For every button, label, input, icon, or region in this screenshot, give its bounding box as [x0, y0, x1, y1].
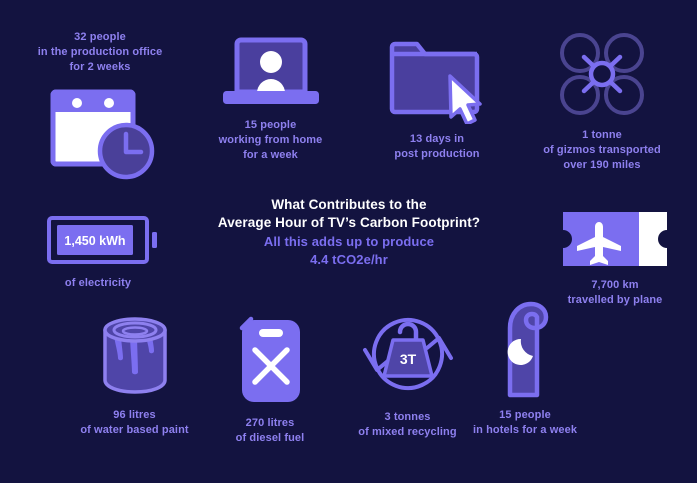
- stat-caption: 1 tonne of gizmos transported over 190 m…: [543, 128, 661, 173]
- stat-water-based-paint: 96 litres of water based paint: [62, 308, 207, 438]
- calendar-clock-icon: [40, 84, 160, 184]
- stat-caption: 32 people in the production office for 2…: [38, 30, 163, 75]
- stat-post-production: 13 days in post production: [362, 32, 512, 162]
- stat-caption: 15 people working from home for a week: [219, 118, 323, 163]
- headline-title: What Contributes to the Average Hour of …: [198, 196, 500, 232]
- recycling-weight-icon: 3T: [355, 306, 461, 402]
- stat-caption: 96 litres of water based paint: [80, 408, 188, 438]
- stat-caption: 270 litres of diesel fuel: [236, 416, 305, 446]
- stat-caption: 15 people in hotels for a week: [473, 408, 577, 438]
- laptop-person-icon: [211, 36, 331, 110]
- battery-value: 1,450 kWh: [64, 234, 125, 248]
- stat-gizmos-transported: 1 tonne of gizmos transported over 190 m…: [512, 28, 692, 173]
- weight-label: 3T: [399, 351, 416, 367]
- stat-production-office: 32 people in the production office for 2…: [10, 30, 190, 184]
- jerry-can-icon: [228, 310, 312, 408]
- stat-electricity: 1,450 kWh of electricity: [28, 212, 168, 291]
- stat-diesel-fuel: 270 litres of diesel fuel: [205, 310, 335, 446]
- stat-caption: 3 tonnes of mixed recycling: [358, 410, 456, 440]
- battery-icon: 1,450 kWh: [33, 212, 163, 268]
- stat-hotels: 15 people in hotels for a week: [455, 296, 595, 438]
- stat-caption: of electricity: [65, 276, 131, 291]
- drone-icon: [554, 28, 650, 120]
- stat-plane-travel: 7,700 km travelled by plane: [540, 208, 690, 308]
- door-hanger-moon-icon: [488, 296, 562, 400]
- stat-working-from-home: 15 people working from home for a week: [188, 36, 353, 163]
- paint-can-icon: [89, 308, 181, 400]
- stat-caption: 13 days in post production: [394, 132, 479, 162]
- plane-ticket-icon: [555, 208, 675, 270]
- headline-subtitle: All this adds up to produce 4.4 tCO2e/hr: [198, 233, 500, 269]
- center-headline-block: What Contributes to the Average Hour of …: [198, 196, 500, 269]
- folder-cursor-icon: [378, 32, 496, 124]
- infographic-canvas: 32 people in the production office for 2…: [0, 0, 697, 483]
